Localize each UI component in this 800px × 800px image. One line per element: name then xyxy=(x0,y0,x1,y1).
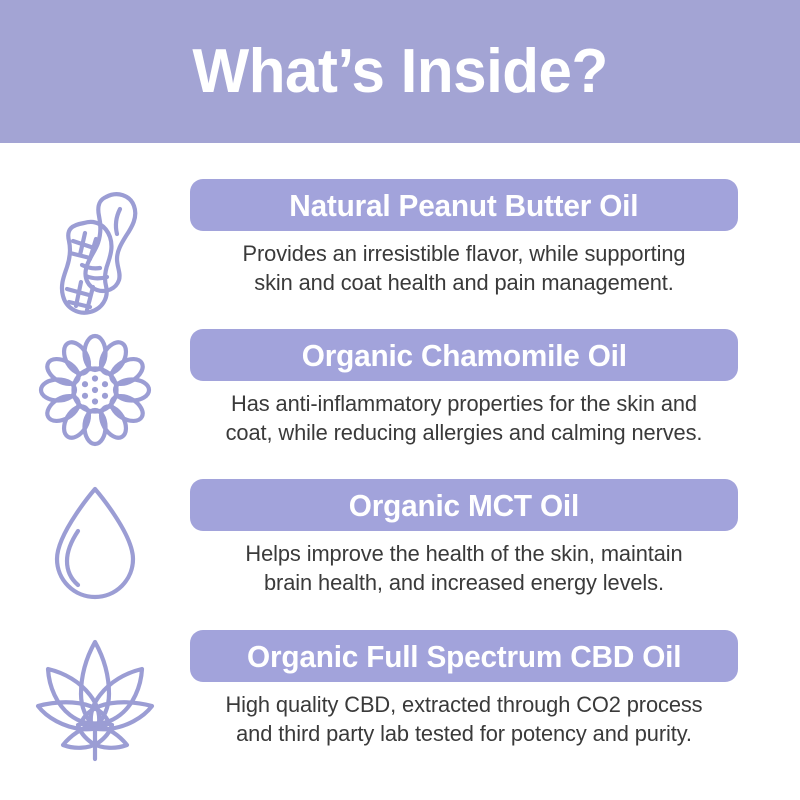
ingredient-description: High quality CBD, extracted through CO2 … xyxy=(198,691,730,749)
page-title: What’s Inside? xyxy=(192,41,607,103)
ingredient-row: Organic Full Spectrum CBD Oil High quali… xyxy=(0,630,800,780)
ingredient-title-pill: Organic Chamomile Oil xyxy=(190,329,738,381)
description-line: and third party lab tested for potency a… xyxy=(198,720,730,749)
ingredient-row: Organic MCT Oil Helps improve the health… xyxy=(0,479,800,629)
description-line: Has anti-inflammatory properties for the… xyxy=(198,390,730,419)
ingredient-list: Natural Peanut Butter Oil Provides an ir… xyxy=(0,143,800,800)
header-banner: What’s Inside? xyxy=(0,0,800,143)
peanut-icon xyxy=(0,179,190,329)
description-line: High quality CBD, extracted through CO2 … xyxy=(198,691,730,720)
description-line: Provides an irresistible flavor, while s… xyxy=(198,240,730,269)
ingredient-title-pill: Organic Full Spectrum CBD Oil xyxy=(190,630,738,682)
ingredient-title: Organic Full Spectrum CBD Oil xyxy=(247,641,681,672)
ingredient-row: Natural Peanut Butter Oil Provides an ir… xyxy=(0,179,800,329)
ingredient-description: Helps improve the health of the skin, ma… xyxy=(198,540,730,598)
chamomile-flower-icon xyxy=(0,329,190,479)
oil-droplet-icon xyxy=(0,479,190,629)
ingredient-title: Natural Peanut Butter Oil xyxy=(289,190,638,221)
ingredient-content: Organic MCT Oil Helps improve the health… xyxy=(190,479,738,598)
ingredient-title: Organic Chamomile Oil xyxy=(301,340,626,371)
ingredient-content: Organic Full Spectrum CBD Oil High quali… xyxy=(190,630,738,749)
description-line: brain health, and increased energy level… xyxy=(198,569,730,598)
ingredient-content: Natural Peanut Butter Oil Provides an ir… xyxy=(190,179,738,298)
ingredient-content: Organic Chamomile Oil Has anti-inflammat… xyxy=(190,329,738,448)
hemp-leaf-icon xyxy=(0,630,190,780)
ingredient-title-pill: Organic MCT Oil xyxy=(190,479,738,531)
ingredient-description: Provides an irresistible flavor, while s… xyxy=(198,240,730,298)
description-line: coat, while reducing allergies and calmi… xyxy=(198,419,730,448)
ingredient-title-pill: Natural Peanut Butter Oil xyxy=(190,179,738,231)
ingredient-title: Organic MCT Oil xyxy=(349,490,579,521)
description-line: skin and coat health and pain management… xyxy=(198,269,730,298)
description-line: Helps improve the health of the skin, ma… xyxy=(198,540,730,569)
ingredient-description: Has anti-inflammatory properties for the… xyxy=(198,390,730,448)
infographic-page: What’s Inside? xyxy=(0,0,800,800)
ingredient-row: Organic Chamomile Oil Has anti-inflammat… xyxy=(0,329,800,479)
